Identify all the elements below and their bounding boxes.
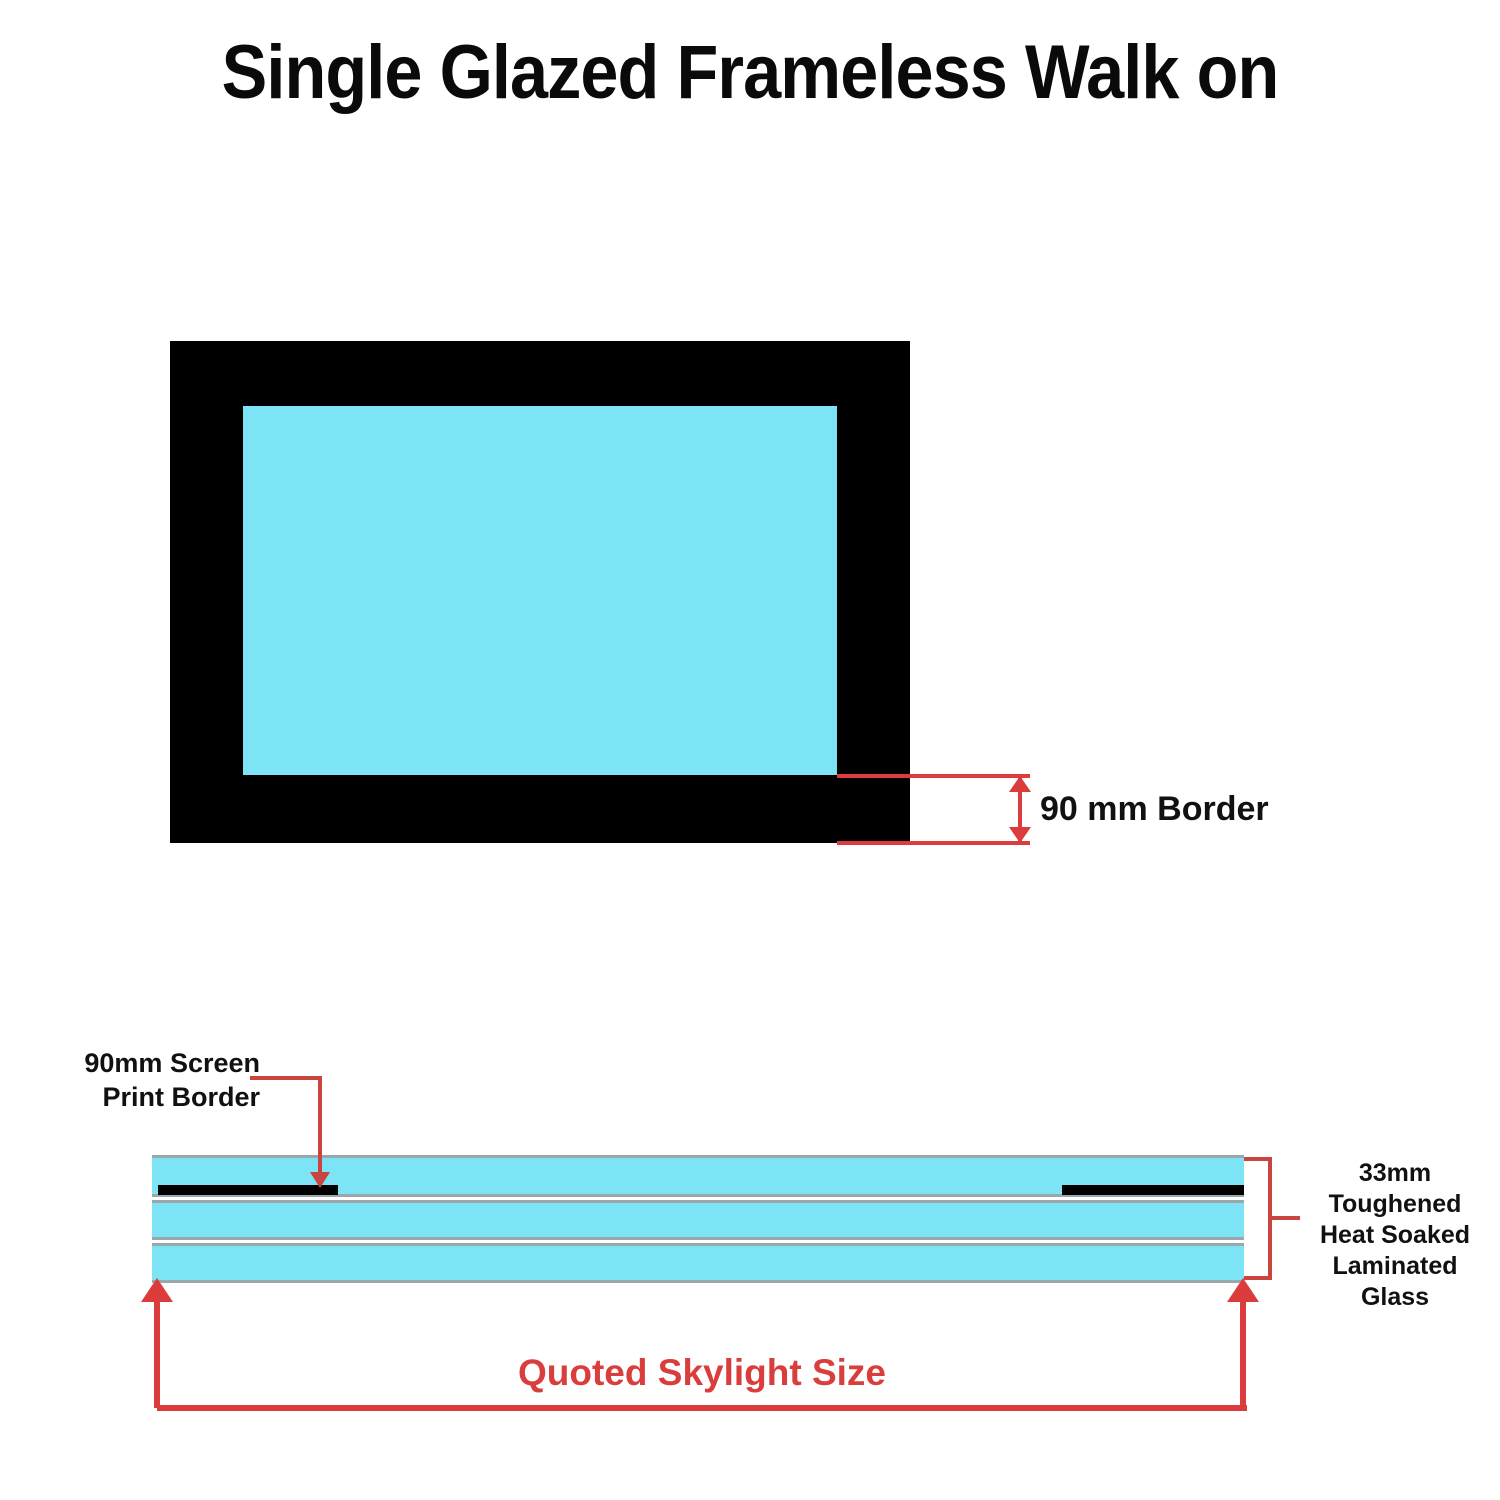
glass-spec-leader-stub	[1268, 1216, 1300, 1220]
plan-extension-line-top	[837, 774, 1030, 778]
print-border-label-line2: Print Border	[10, 1080, 260, 1114]
quoted-size-label: Quoted Skylight Size	[157, 1352, 1247, 1394]
glass-spec-line3: Heat Soaked	[1300, 1220, 1490, 1251]
overall-arrow-up-left-icon	[141, 1278, 173, 1302]
plan-arrow-up-icon	[1009, 776, 1031, 792]
overall-dimension-baseline	[157, 1405, 1247, 1411]
print-border-leader-vertical	[318, 1076, 322, 1176]
overall-arrow-up-right-icon	[1227, 1278, 1259, 1302]
plan-border-label: 90 mm Border	[1040, 790, 1269, 829]
print-border-label-line1: 90mm Screen	[10, 1046, 260, 1080]
glass-spec-label: 33mm Toughened Heat Soaked Laminated Gla…	[1300, 1158, 1490, 1313]
glass-spec-line1: 33mm	[1300, 1158, 1490, 1189]
section-screen-print-bar-right	[1062, 1185, 1244, 1195]
print-border-leader-horizontal	[250, 1076, 322, 1080]
print-border-label: 90mm Screen Print Border	[10, 1046, 260, 1114]
print-border-arrow-down-icon	[310, 1172, 330, 1188]
diagram-canvas: Single Glazed Frameless Walk on 90 mm Bo…	[0, 0, 1500, 1500]
plan-extension-line-bottom	[837, 841, 1030, 845]
plan-arrow-down-icon	[1009, 827, 1031, 843]
section-middle-glass-pane	[152, 1200, 1244, 1240]
section-bottom-glass-pane	[152, 1243, 1244, 1283]
glass-spec-line2: Toughened	[1300, 1189, 1490, 1220]
plan-clear-glass-area	[243, 406, 837, 775]
glass-spec-line4: Laminated Glass	[1300, 1251, 1490, 1313]
page-title: Single Glazed Frameless Walk on	[75, 30, 1425, 116]
